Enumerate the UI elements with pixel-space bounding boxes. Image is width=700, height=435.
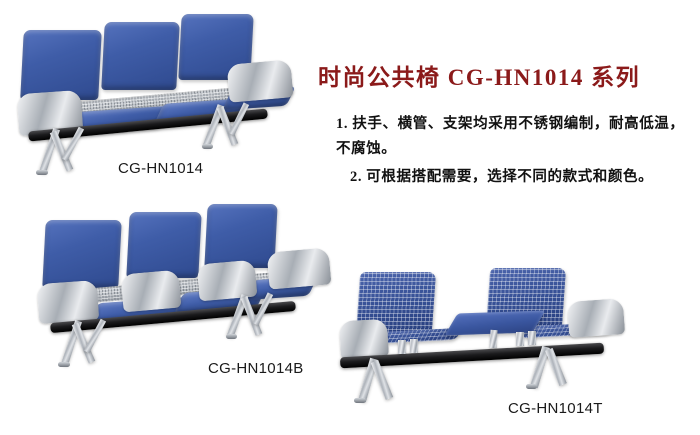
- armrest: [226, 59, 293, 102]
- seat-back: [20, 30, 102, 100]
- product-sheet: CG-HN1014 CG-HN1014B: [0, 0, 700, 435]
- leg-foot: [202, 144, 213, 149]
- seat-back: [204, 204, 277, 268]
- product-caption-cg-hn1014b: CG-HN1014B: [208, 360, 304, 377]
- armrest: [267, 247, 332, 289]
- product-image-cg-hn1014: [0, 8, 300, 168]
- beam-bracket: [528, 331, 536, 345]
- product-caption-cg-hn1014t: CG-HN1014T: [508, 400, 603, 417]
- table-support: [489, 330, 497, 348]
- seat-back: [101, 22, 180, 90]
- seat-back: [126, 212, 201, 278]
- feature-item: 2. 可根据搭配需要，选择不同的款式和颜色。: [336, 165, 694, 190]
- page-title: 时尚公共椅 CG-HN1014 系列: [318, 58, 693, 92]
- armrest: [37, 280, 100, 324]
- leg-foot: [526, 384, 537, 389]
- seat-back: [42, 220, 122, 288]
- product-image-cg-hn1014b: [18, 196, 338, 364]
- leg-foot: [36, 170, 48, 175]
- armrest: [196, 260, 257, 302]
- product-caption-cg-hn1014: CG-HN1014: [118, 160, 203, 177]
- armrest: [120, 270, 181, 313]
- feature-list: 1. 扶手、横管、支架均采用不锈钢编制，耐高低温，不腐蚀。 2. 可根据搭配需要…: [336, 112, 694, 192]
- armrest: [567, 298, 625, 338]
- armrest: [339, 319, 389, 359]
- feature-item: 1. 扶手、横管、支架均采用不锈钢编制，耐高低温，不腐蚀。: [336, 112, 694, 162]
- beam-bracket: [410, 339, 418, 353]
- leg-foot: [58, 362, 70, 367]
- beam-bracket: [516, 332, 524, 346]
- beam-bracket: [398, 340, 406, 354]
- leg-foot: [354, 398, 366, 403]
- leg-foot: [226, 334, 237, 339]
- product-image-cg-hn1014t: [340, 268, 670, 408]
